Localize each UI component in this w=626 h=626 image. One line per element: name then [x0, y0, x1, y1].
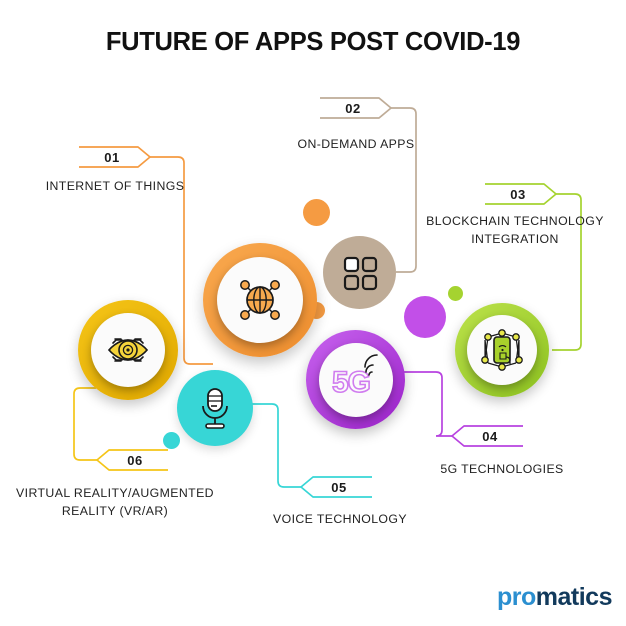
node-blockchain-inner: [467, 315, 537, 385]
vr-eye-icon: [101, 323, 155, 377]
caption-05: VOICE TECHNOLOGY: [240, 511, 440, 529]
caption-04: 5G TECHNOLOGIES: [392, 461, 612, 479]
tag-05: 05: [299, 475, 373, 499]
tag-02: 02: [319, 96, 393, 120]
node-vr-ar[interactable]: [78, 300, 178, 400]
purple-dot: [404, 296, 446, 338]
svg-text:5G: 5G: [332, 366, 370, 399]
node-5g-inner: 5G: [319, 343, 393, 417]
tag-01: 01: [78, 145, 152, 169]
caption-06-line1: VIRTUAL REALITY/AUGMENTED: [6, 485, 224, 503]
tag-number-04: 04: [450, 424, 524, 448]
node-voice-technology[interactable]: [177, 370, 253, 446]
logo-part-2: matics: [536, 583, 612, 611]
node-iot-inner: [217, 257, 303, 343]
tag-number-02: 02: [319, 96, 393, 120]
caption-03-line1: BLOCKCHAIN TECHNOLOGY: [404, 213, 626, 231]
globe-network-icon: [227, 267, 293, 333]
node-vr-ar-inner: [91, 313, 165, 387]
node-ondemand-apps[interactable]: [323, 236, 396, 309]
node-blockchain[interactable]: [455, 303, 549, 397]
green-dot: [448, 286, 463, 301]
fiveg-signal-icon: 5G: [326, 352, 386, 408]
blockchain-mobile-icon: [475, 323, 529, 377]
caption-06: VIRTUAL REALITY/AUGMENTED REALITY (VR/AR…: [6, 485, 224, 521]
tag-06: 06: [95, 448, 169, 472]
orange-dot-large: [303, 199, 330, 226]
infographic-canvas: FUTURE OF APPS POST COVID-19 01 02 03: [0, 0, 626, 626]
node-5g-technologies[interactable]: 5G: [306, 330, 405, 429]
tag-number-03: 03: [484, 182, 558, 206]
logo-part-1: pro: [497, 583, 536, 611]
cyan-dot: [163, 432, 180, 449]
caption-06-line2: REALITY (VR/AR): [6, 503, 224, 521]
tag-number-01: 01: [78, 145, 152, 169]
app-grid-icon: [340, 253, 380, 293]
tag-03: 03: [484, 182, 558, 206]
tag-04: 04: [450, 424, 524, 448]
promatics-logo: promatics: [497, 583, 612, 612]
microphone-icon: [194, 385, 236, 431]
caption-01: INTERNET OF THINGS: [8, 178, 222, 196]
tag-number-06: 06: [95, 448, 169, 472]
caption-03: BLOCKCHAIN TECHNOLOGY INTEGRATION: [404, 213, 626, 249]
caption-03-line2: INTEGRATION: [404, 231, 626, 249]
node-internet-of-things[interactable]: [203, 243, 317, 357]
caption-02: ON-DEMAND APPS: [258, 136, 454, 154]
tag-number-05: 05: [299, 475, 373, 499]
